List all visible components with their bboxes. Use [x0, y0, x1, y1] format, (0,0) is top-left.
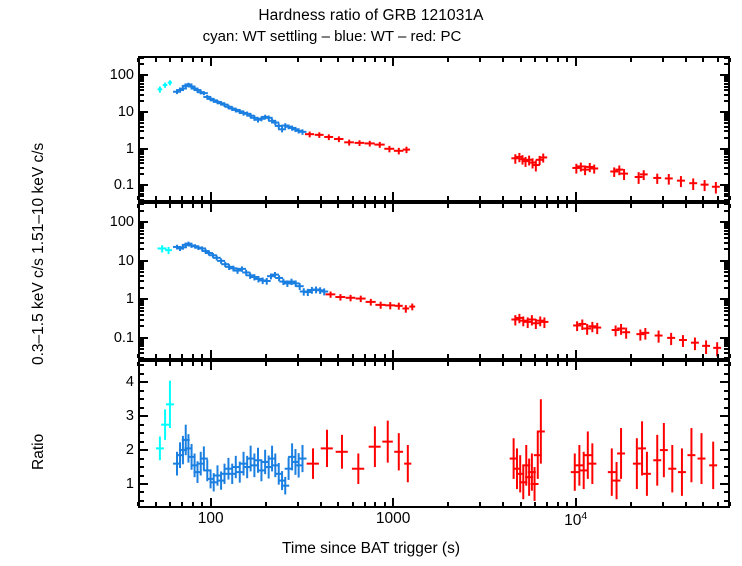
y-tick-right — [724, 203, 728, 205]
y-tick-left — [140, 260, 148, 262]
x-tick-top — [575, 362, 577, 370]
y-tick-left — [140, 390, 144, 392]
x-tick-bottom — [297, 196, 299, 200]
y-tick-left — [140, 398, 144, 400]
y-tick-right — [724, 275, 728, 277]
y-tick-right — [724, 230, 728, 232]
y-tick-left — [140, 117, 144, 119]
y-tick-left — [140, 348, 144, 350]
y-tick-right — [724, 345, 728, 347]
y-tick-left — [140, 304, 144, 306]
x-tick-bottom — [201, 196, 203, 200]
y-tick-right — [724, 76, 728, 78]
x-tick-top — [265, 58, 267, 62]
series-pc — [305, 132, 720, 194]
series-wt-settling — [158, 245, 172, 254]
y-tick-left — [140, 262, 144, 264]
y-tick-left — [140, 432, 144, 434]
y-tick-left — [140, 137, 144, 139]
y-tick-left — [140, 203, 144, 205]
y-tick-right — [724, 80, 728, 82]
x-tick-bottom — [729, 502, 731, 506]
y-tick-left — [140, 221, 148, 223]
x-tick-bottom — [392, 192, 394, 200]
y-tick-right — [724, 262, 728, 264]
y-tick-right — [724, 266, 728, 268]
y-tick-left — [140, 491, 144, 493]
y-tick-right — [724, 122, 728, 124]
y-tick-right — [724, 319, 728, 321]
y-tick-left — [140, 319, 144, 321]
x-tick-top — [337, 58, 339, 62]
x-tick-bottom — [702, 354, 704, 358]
x-tick-bottom — [520, 354, 522, 358]
y-tick-right — [720, 483, 728, 485]
y-tick-right — [724, 458, 728, 460]
y-axis-label-flux: 0.3–1.5 keV c/s 1.51–10 keV c/s — [30, 143, 48, 365]
y-tick-left — [140, 357, 144, 359]
y-tick-left — [140, 173, 144, 175]
x-tick-bottom — [384, 196, 386, 200]
x-tick-bottom — [169, 502, 171, 506]
y-tick-left — [140, 162, 144, 164]
x-tick-bottom — [265, 196, 267, 200]
y-tick-right — [724, 466, 728, 468]
x-tick-bottom — [534, 502, 536, 506]
x-tick-bottom — [546, 502, 548, 506]
y-tick-right — [720, 111, 728, 113]
y-tick-right — [724, 268, 728, 270]
series-wt-settling — [156, 381, 174, 461]
x-tick-top — [557, 204, 559, 208]
x-tick-bottom — [702, 196, 704, 200]
y-axis-label-ratio: Ratio — [30, 434, 48, 470]
y-tick-left — [140, 407, 144, 409]
x-tick-top — [479, 362, 481, 366]
y-tick-right — [724, 364, 728, 366]
x-tick-bottom — [662, 196, 664, 200]
x-tick-top — [566, 58, 568, 62]
x-tick-bottom — [717, 354, 719, 358]
plot-area-hard — [140, 58, 728, 200]
x-tick-top — [566, 204, 568, 208]
x-tick-top — [384, 204, 386, 208]
x-tick-top — [520, 58, 522, 62]
x-tick-top — [337, 362, 339, 366]
x-tick-top — [320, 362, 322, 366]
x-tick-bottom — [192, 196, 194, 200]
x-tick-top — [297, 204, 299, 208]
y-tick-left — [140, 80, 144, 82]
y-tick-left — [140, 352, 144, 354]
x-tick-bottom — [702, 502, 704, 506]
x-tick-bottom — [320, 502, 322, 506]
y-tick-left — [140, 159, 144, 161]
x-tick-bottom — [364, 196, 366, 200]
x-tick-bottom — [502, 196, 504, 200]
series-wt — [173, 242, 328, 296]
x-tick-top — [320, 204, 322, 208]
y-tick-left — [140, 325, 144, 327]
x-tick-bottom — [155, 196, 157, 200]
y-tick-right — [724, 63, 728, 65]
y-tick-right — [724, 339, 728, 341]
x-tick-top — [320, 58, 322, 62]
y-tick-right — [720, 148, 728, 150]
x-tick-top — [729, 204, 731, 208]
x-tick-top — [169, 58, 171, 62]
y-tick-right — [724, 390, 728, 392]
x-tick-top — [137, 362, 139, 366]
x-tick-bottom — [392, 498, 394, 506]
x-tick-top — [364, 362, 366, 366]
y-tick-left — [140, 225, 144, 227]
y-tick-right — [724, 153, 728, 155]
x-tick-bottom — [662, 502, 664, 506]
x-tick-bottom — [352, 354, 354, 358]
x-tick-top — [181, 204, 183, 208]
y-tick-right — [724, 424, 728, 426]
x-tick-top — [557, 362, 559, 366]
x-tick-top — [566, 362, 568, 366]
y-tick-right — [724, 78, 728, 80]
y-tick-left — [140, 195, 144, 197]
y-tick-left — [140, 151, 144, 153]
y-tick-left — [140, 148, 148, 150]
x-tick-top — [729, 58, 731, 62]
x-tick-top — [717, 362, 719, 366]
x-tick-top — [201, 362, 203, 366]
x-tick-bottom — [534, 196, 536, 200]
y-tick-left — [140, 167, 144, 169]
x-tick-top — [717, 58, 719, 62]
x-tick-bottom — [201, 502, 203, 506]
x-tick-top — [201, 58, 203, 62]
x-tick-top — [502, 362, 504, 366]
y-tick-left — [140, 310, 144, 312]
y-tick-left — [140, 280, 144, 282]
x-tick-bottom — [502, 354, 504, 358]
y-tick-right — [724, 398, 728, 400]
series-wt — [173, 83, 306, 135]
x-tick-top — [630, 58, 632, 62]
x-tick-top — [352, 362, 354, 366]
x-tick-bottom — [265, 502, 267, 506]
x-tick-bottom — [192, 502, 194, 506]
y-tick-left — [140, 199, 144, 201]
x-tick-bottom — [352, 196, 354, 200]
y-tick-right — [724, 491, 728, 493]
y-tick-left — [140, 271, 144, 273]
hardness-ratio-figure: Hardness ratio of GRB 121031A cyan: WT s… — [0, 0, 742, 566]
y-tick-left — [140, 86, 144, 88]
y-tick-right — [724, 280, 728, 282]
x-tick-bottom — [575, 192, 577, 200]
x-tick-top — [169, 204, 171, 208]
y-tick-right — [724, 86, 728, 88]
y-tick-right — [724, 475, 728, 477]
y-tick-right — [724, 357, 728, 359]
y-tick-right — [724, 94, 728, 96]
y-tick-left — [140, 76, 144, 78]
y-tick-left — [140, 307, 144, 309]
series-pc — [326, 292, 722, 357]
y-tick-right — [724, 130, 728, 132]
y-tick-right — [724, 190, 728, 192]
y-tick-right — [724, 307, 728, 309]
x-tick-top — [352, 58, 354, 62]
y-tick-right — [724, 287, 728, 289]
x-tick-bottom — [630, 354, 632, 358]
x-tick-bottom — [169, 196, 171, 200]
x-tick-top — [374, 204, 376, 208]
x-tick-bottom — [137, 354, 139, 358]
x-tick-top — [685, 362, 687, 366]
y-tick-right — [724, 237, 728, 239]
y-tick-left — [140, 122, 144, 124]
x-tick-top — [546, 58, 548, 62]
y-tick-label: 4 — [78, 375, 134, 390]
y-tick-left — [140, 302, 144, 304]
x-tick-top — [352, 204, 354, 208]
x-tick-top — [479, 58, 481, 62]
x-tick-top — [557, 58, 559, 62]
x-tick-bottom — [384, 502, 386, 506]
y-tick-right — [720, 298, 728, 300]
x-tick-top — [702, 58, 704, 62]
y-tick-left — [140, 287, 144, 289]
y-tick-right — [724, 432, 728, 434]
y-tick-left — [140, 264, 144, 266]
x-tick-top — [384, 362, 386, 366]
x-tick-bottom — [320, 354, 322, 358]
x-tick-top — [265, 362, 267, 366]
x-tick-top — [630, 362, 632, 366]
plot-area-soft — [140, 204, 728, 358]
x-tick-bottom — [520, 502, 522, 506]
y-tick-right — [724, 151, 728, 153]
x-tick-top — [479, 204, 481, 208]
y-tick-right — [724, 57, 728, 59]
x-tick-bottom — [384, 354, 386, 358]
y-tick-left — [140, 381, 148, 383]
y-tick-label-group: 4321 — [78, 0, 134, 566]
x-tick-bottom — [181, 502, 183, 506]
x-tick-top — [210, 362, 212, 370]
x-tick-bottom — [210, 192, 212, 200]
y-tick-left — [140, 275, 144, 277]
y-tick-left — [140, 237, 144, 239]
x-tick-bottom — [557, 196, 559, 200]
x-tick-bottom — [479, 196, 481, 200]
y-tick-right — [724, 341, 728, 343]
x-tick-top — [201, 204, 203, 208]
x-tick-bottom — [685, 502, 687, 506]
y-tick-left — [140, 343, 144, 345]
y-tick-left — [140, 74, 148, 76]
x-tick-bottom — [566, 502, 568, 506]
y-tick-right — [724, 227, 728, 229]
y-tick-right — [724, 407, 728, 409]
y-tick-left — [140, 449, 148, 451]
y-tick-left — [140, 466, 144, 468]
x-tick-top — [662, 204, 664, 208]
y-tick-right — [720, 260, 728, 262]
y-tick-left — [140, 233, 144, 235]
x-tick-top — [297, 58, 299, 62]
x-tick-bottom — [566, 354, 568, 358]
y-tick-left — [140, 364, 144, 366]
y-tick-left — [140, 153, 144, 155]
y-tick-right — [724, 89, 728, 91]
x-tick-top — [392, 204, 394, 212]
y-tick-right — [724, 242, 728, 244]
x-tick-top — [546, 204, 548, 208]
plot-area-ratio — [140, 362, 728, 506]
y-tick-left — [140, 314, 144, 316]
x-tick-top — [534, 362, 536, 366]
y-tick-right — [724, 500, 728, 502]
x-tick-bottom — [479, 354, 481, 358]
series-wt — [173, 425, 306, 495]
x-tick-top — [662, 362, 664, 366]
y-tick-left — [140, 126, 144, 128]
y-tick-left — [140, 230, 144, 232]
y-tick-left — [140, 242, 144, 244]
y-tick-left — [140, 424, 144, 426]
y-tick-right — [724, 352, 728, 354]
x-tick-bottom — [364, 502, 366, 506]
y-tick-right — [720, 74, 728, 76]
y-tick-right — [724, 117, 728, 119]
x-tick-bottom — [447, 354, 449, 358]
x-tick-bottom — [169, 354, 171, 358]
y-tick-right — [724, 302, 728, 304]
panel-soft-band — [138, 202, 730, 360]
x-tick-bottom — [337, 354, 339, 358]
y-tick-left — [140, 500, 144, 502]
y-tick-label: 3 — [78, 409, 134, 424]
y-tick-right — [724, 173, 728, 175]
y-tick-right — [720, 415, 728, 417]
y-tick-left — [140, 415, 148, 417]
y-tick-right — [724, 314, 728, 316]
x-tick-top — [137, 204, 139, 208]
y-tick-right — [720, 221, 728, 223]
y-tick-left — [140, 248, 144, 250]
y-tick-left — [140, 475, 144, 477]
x-tick-top — [575, 204, 577, 212]
x-tick-bottom — [534, 354, 536, 358]
x-tick-bottom — [520, 196, 522, 200]
x-tick-top — [685, 58, 687, 62]
y-tick-right — [720, 381, 728, 383]
x-tick-bottom — [447, 196, 449, 200]
x-tick-bottom — [297, 502, 299, 506]
x-tick-top — [181, 58, 183, 62]
y-tick-left — [140, 100, 144, 102]
x-tick-top — [534, 58, 536, 62]
y-tick-left — [140, 115, 144, 117]
series-wt-settling — [158, 80, 172, 92]
x-tick-top — [662, 58, 664, 62]
y-tick-right — [724, 100, 728, 102]
x-tick-bottom — [630, 502, 632, 506]
x-tick-bottom — [364, 354, 366, 358]
y-tick-right — [724, 137, 728, 139]
y-tick-right — [724, 162, 728, 164]
y-tick-right — [724, 199, 728, 201]
y-tick-left — [140, 89, 144, 91]
x-tick-top — [702, 204, 704, 208]
y-tick-right — [724, 348, 728, 350]
x-tick-top — [297, 362, 299, 366]
x-tick-bottom — [729, 196, 731, 200]
y-tick-right — [724, 195, 728, 197]
x-tick-bottom — [546, 354, 548, 358]
y-tick-right — [720, 337, 728, 339]
y-tick-left — [140, 458, 144, 460]
x-tick-bottom — [297, 354, 299, 358]
x-tick-top — [364, 58, 366, 62]
y-tick-left — [140, 341, 144, 343]
y-tick-left — [140, 184, 148, 186]
y-tick-label: 1 — [78, 477, 134, 492]
y-tick-right — [724, 225, 728, 227]
y-tick-left — [140, 227, 144, 229]
y-tick-left — [140, 373, 144, 375]
x-tick-top — [374, 362, 376, 366]
x-tick-top — [192, 362, 194, 366]
y-tick-left — [140, 130, 144, 132]
x-tick-top — [392, 362, 394, 370]
x-tick-bottom — [337, 502, 339, 506]
x-tick-bottom — [374, 196, 376, 200]
y-tick-left — [140, 210, 144, 212]
x-tick-top — [447, 362, 449, 366]
x-tick-top — [155, 204, 157, 208]
x-tick-top — [520, 362, 522, 366]
y-tick-right — [724, 441, 728, 443]
x-tick-top — [717, 204, 719, 208]
y-tick-right — [724, 304, 728, 306]
y-tick-left — [140, 111, 148, 113]
y-tick-right — [724, 188, 728, 190]
y-tick-left — [140, 268, 144, 270]
y-tick-left — [140, 483, 148, 485]
x-tick-bottom — [137, 502, 139, 506]
y-tick-right — [724, 115, 728, 117]
y-tick-right — [724, 167, 728, 169]
x-tick-top — [155, 362, 157, 366]
y-tick-right — [724, 373, 728, 375]
y-tick-right — [724, 186, 728, 188]
x-tick-bottom — [192, 354, 194, 358]
y-tick-right — [724, 193, 728, 195]
y-tick-left — [140, 57, 144, 59]
y-tick-left — [140, 300, 144, 302]
x-tick-bottom — [502, 502, 504, 506]
y-tick-left — [140, 113, 144, 115]
y-tick-right — [724, 264, 728, 266]
x-tick-top — [265, 204, 267, 208]
x-tick-bottom — [729, 354, 731, 358]
y-tick-right — [724, 159, 728, 161]
x-tick-bottom — [447, 502, 449, 506]
x-tick-label: 1000 — [376, 511, 410, 527]
y-tick-left — [140, 223, 144, 225]
panel-ratio — [138, 360, 730, 508]
